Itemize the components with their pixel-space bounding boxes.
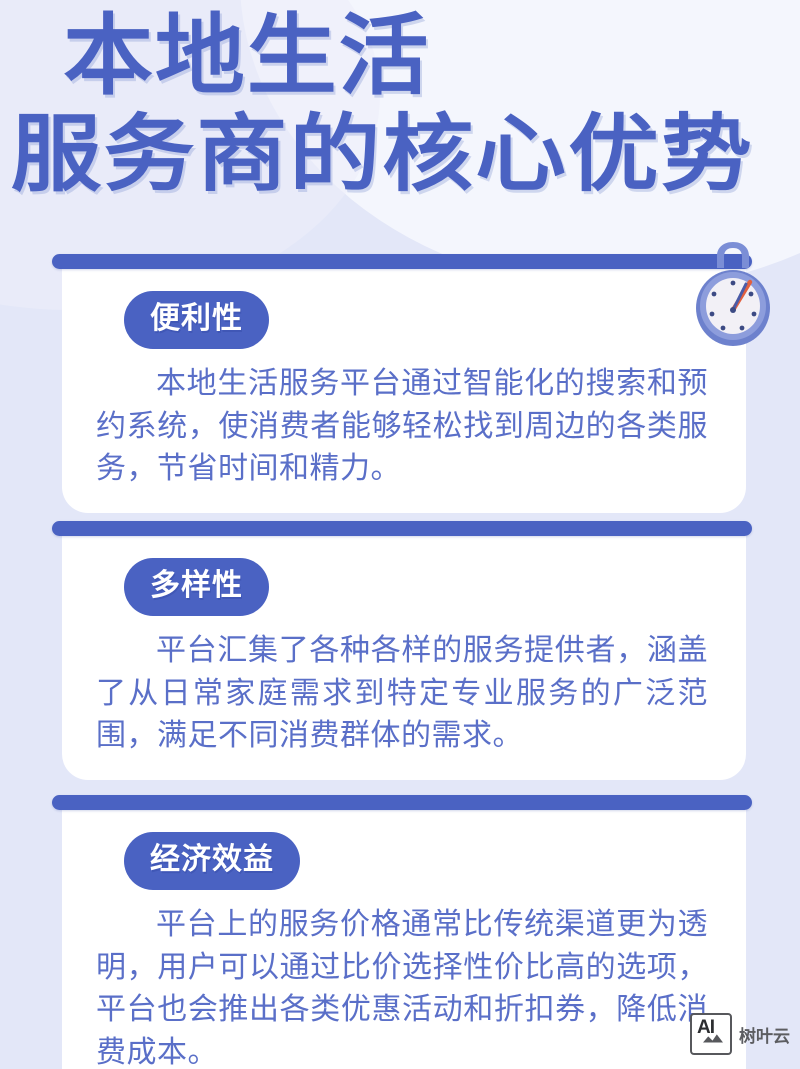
page-title: 本地生活 服务商的核心优势 — [0, 12, 800, 196]
card-description: 平台上的服务价格通常比传统渠道更为透明，用户可以通过比价选择性价比高的选项，平台… — [62, 890, 746, 1069]
card-top-bar — [52, 795, 752, 810]
card-description: 平台汇集了各种各样的服务提供者，涵盖了从日常家庭需求到特定专业服务的广泛范围，满… — [62, 616, 746, 758]
stopwatch-icon — [690, 238, 776, 350]
watermark: AI 树叶云 — [690, 1013, 790, 1055]
ai-image-icon: AI — [690, 1013, 732, 1055]
watermark-brand: 树叶云 — [739, 1022, 790, 1047]
title-line-secondary: 服务商的核心优势 — [0, 112, 800, 196]
card-top-bar — [52, 254, 752, 269]
feature-card: 经济效益 平台上的服务价格通常比传统渠道更为透明，用户可以通过比价选择性价比高的… — [52, 795, 752, 1069]
poster-canvas: 本地生活 服务商的核心优势 便利性 本地生活服务平台通过智能化的搜索和预约系统，… — [0, 0, 800, 1069]
card-top-bar — [52, 521, 752, 536]
mountain-glyph — [692, 1033, 732, 1053]
card-badge: 便利性 — [124, 291, 269, 349]
card-body: 多样性 平台汇集了各种各样的服务提供者，涵盖了从日常家庭需求到特定专业服务的广泛… — [62, 534, 746, 780]
feature-card: 便利性 本地生活服务平台通过智能化的搜索和预约系统，使消费者能够轻松找到周边的各… — [52, 254, 752, 513]
card-badge: 多样性 — [124, 558, 269, 616]
card-badge: 经济效益 — [124, 832, 300, 890]
card-body: 便利性 本地生活服务平台通过智能化的搜索和预约系统，使消费者能够轻松找到周边的各… — [62, 267, 746, 513]
feature-card: 多样性 平台汇集了各种各样的服务提供者，涵盖了从日常家庭需求到特定专业服务的广泛… — [52, 521, 752, 780]
card-body: 经济效益 平台上的服务价格通常比传统渠道更为透明，用户可以通过比价选择性价比高的… — [62, 808, 746, 1069]
card-description: 本地生活服务平台通过智能化的搜索和预约系统，使消费者能够轻松找到周边的各类服务，… — [62, 349, 746, 491]
title-line-primary: 本地生活 — [0, 12, 800, 100]
